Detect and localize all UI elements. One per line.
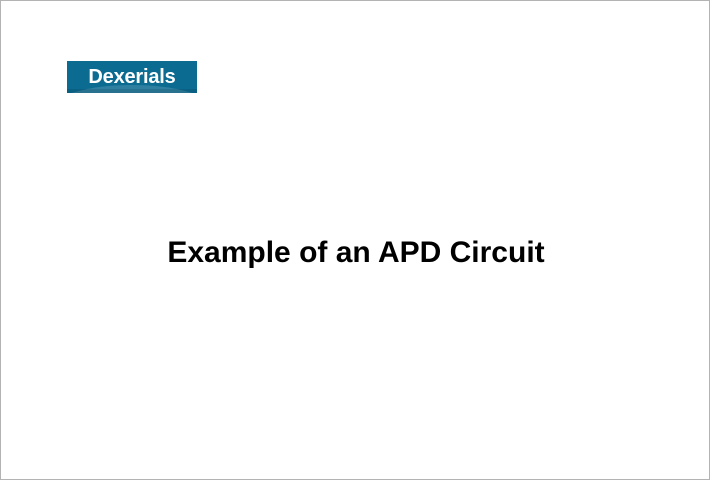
page-title: Example of an APD Circuit	[1, 235, 710, 271]
presentation-slide: Dexerials Example of an APD Circuit	[0, 0, 710, 480]
dexerials-logo: Dexerials	[67, 61, 197, 93]
logo-wordmark: Dexerials	[67, 61, 197, 93]
